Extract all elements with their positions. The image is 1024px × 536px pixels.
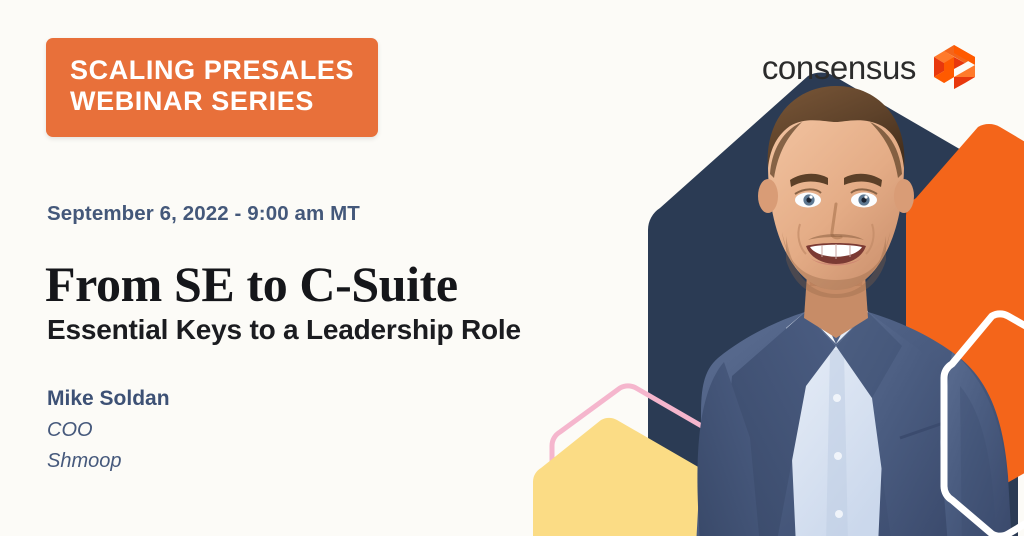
consensus-logo: consensus <box>762 44 976 90</box>
event-date: September 6, 2022 - 9:00 am MT <box>47 202 360 226</box>
consensus-c-icon <box>932 44 976 90</box>
logo-wordmark: consensus <box>762 51 916 84</box>
badge-line-1: SCALING PRESALES <box>70 55 354 86</box>
event-subtitle: Essential Keys to a Leadership Role <box>47 314 521 346</box>
badge-line-2: WEBINAR SERIES <box>70 86 354 117</box>
event-title: From SE to C-Suite <box>45 255 458 313</box>
speaker-name: Mike Soldan <box>47 387 170 411</box>
series-badge: SCALING PRESALES WEBINAR SERIES <box>46 38 378 137</box>
speaker-role: COO <box>47 419 93 442</box>
webinar-promo-card: SCALING PRESALES WEBINAR SERIES Septembe… <box>0 0 1024 536</box>
speaker-organization: Shmoop <box>47 450 122 473</box>
